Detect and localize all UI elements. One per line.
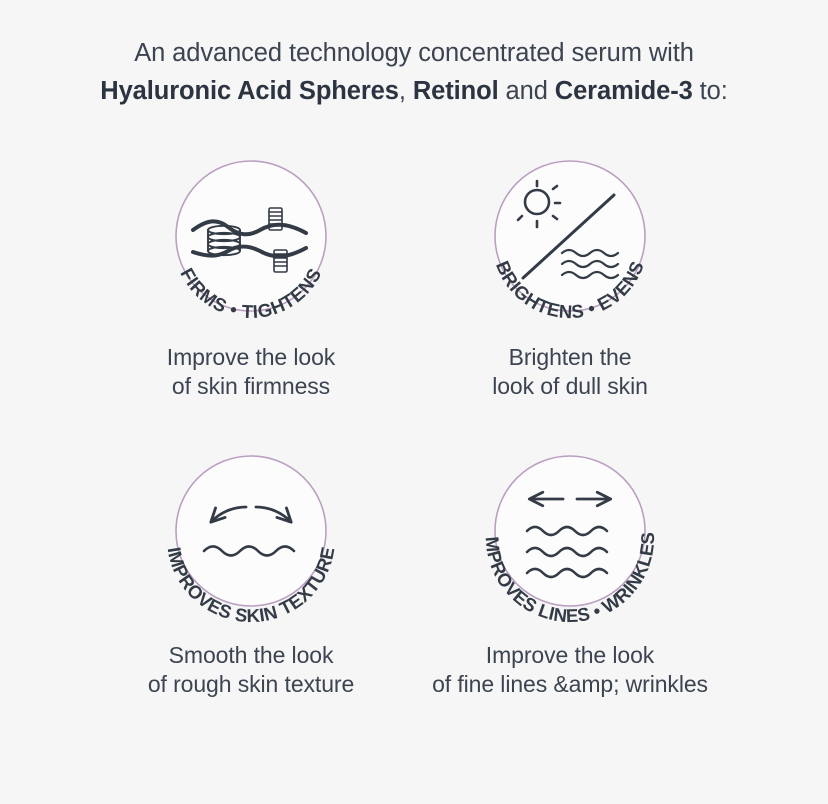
arrows-and-three-waves-icon: IMPROVES LINES • WRINKLES bbox=[475, 443, 665, 633]
headline-tail: to: bbox=[693, 77, 728, 105]
benefit-caption-line-1: Smooth the look bbox=[169, 642, 334, 668]
benefit-badge: BRIGHTENS • EVENS bbox=[475, 145, 665, 335]
ingredient-ceramide-3: Ceramide-3 bbox=[555, 77, 693, 105]
benefit-caption: Improve the look of fine lines &amp; wri… bbox=[380, 641, 760, 699]
benefits-grid: FIRMS • TIGHTENS Improve the look of ski… bbox=[0, 145, 828, 765]
headline-line-2: Hyaluronic Acid Spheres, Retinol and Cer… bbox=[0, 72, 828, 110]
ingredient-hyaluronic-acid-spheres: Hyaluronic Acid Spheres bbox=[100, 77, 399, 105]
headline-sep-1: , bbox=[399, 77, 413, 105]
skin-layers-springs-icon: FIRMS • TIGHTENS bbox=[156, 145, 346, 335]
arrows-and-wave-icon: IMPROVES SKIN TEXTURE bbox=[156, 443, 346, 633]
ingredient-retinol: Retinol bbox=[413, 77, 499, 105]
page-title: An advanced technology concentrated seru… bbox=[0, 34, 828, 110]
benefit-caption-line-1: Improve the look bbox=[167, 344, 335, 370]
benefit-badge: IMPROVES LINES • WRINKLES bbox=[475, 443, 665, 633]
benefit-caption-line-1: Improve the look bbox=[486, 642, 654, 668]
benefit-caption-line-2: look of dull skin bbox=[380, 372, 760, 401]
benefit-caption: Brighten the look of dull skin bbox=[380, 343, 760, 401]
headline-conjunction: and bbox=[499, 77, 555, 105]
benefit-item-brightens-evens: BRIGHTENS • EVENS Brighten the look of d… bbox=[380, 145, 760, 401]
benefit-caption-line-1: Brighten the bbox=[509, 344, 632, 370]
sun-and-waves-icon: BRIGHTENS • EVENS bbox=[475, 145, 665, 335]
benefit-badge: FIRMS • TIGHTENS bbox=[156, 145, 346, 335]
benefit-badge: IMPROVES SKIN TEXTURE bbox=[156, 443, 346, 633]
headline-line-1: An advanced technology concentrated seru… bbox=[134, 39, 694, 67]
benefit-item-improves-lines-wrinkles: IMPROVES LINES • WRINKLES Improve the lo… bbox=[380, 443, 760, 699]
benefit-caption-line-2: of fine lines &amp; wrinkles bbox=[380, 670, 760, 699]
